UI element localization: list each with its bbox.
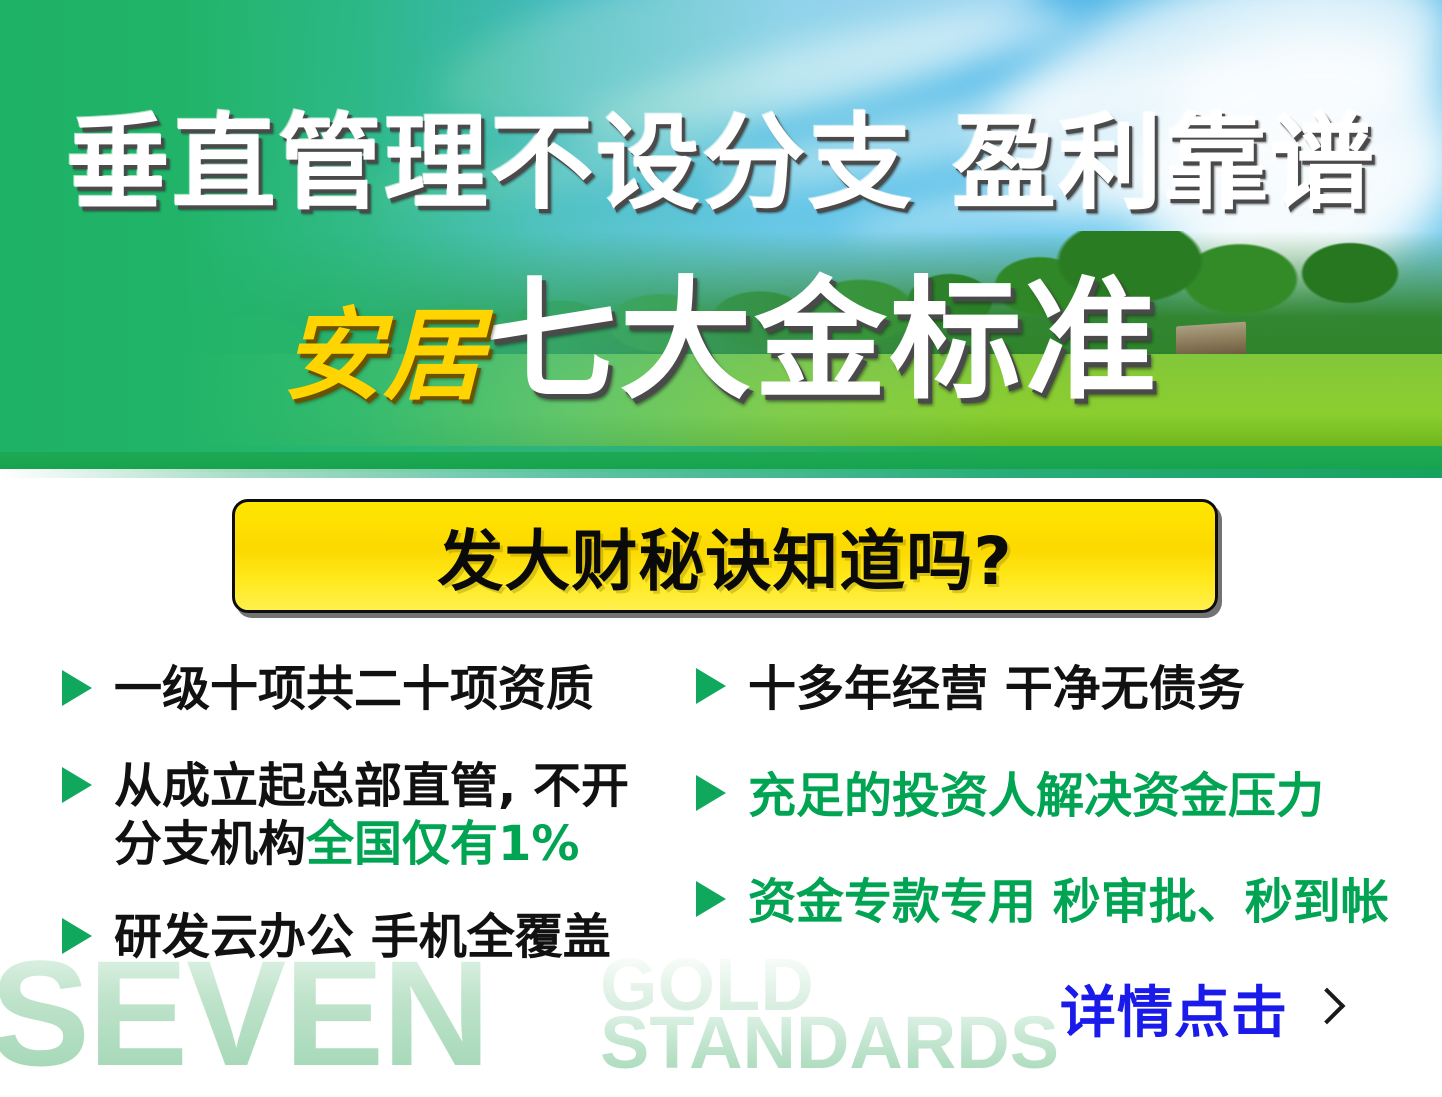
triangle-bullet-icon — [696, 881, 726, 917]
brand-name: 安居 — [283, 274, 485, 419]
feature-text: 十多年经营 干净无债务 — [748, 660, 1245, 719]
feature-text: 充足的投资人解决资金压力 — [748, 767, 1324, 826]
list-item: 研发云办公 手机全覆盖 — [62, 908, 702, 967]
triangle-bullet-icon — [696, 668, 726, 704]
triangle-bullet-icon — [62, 670, 92, 706]
list-item: 十多年经营 干净无债务 — [696, 660, 1396, 719]
details-cta-link[interactable]: 详情点击 — [1060, 968, 1334, 1049]
feature-column-left: 一级十项共二十项资质 从成立起总部直管, 不开分支机构全国仅有1% 研发云办公 … — [62, 660, 702, 996]
feature-text: 资金专款专用 秒审批、秒到帐 — [748, 873, 1389, 932]
feature-text-line1: 从成立起总部直管, 不开 — [114, 758, 629, 814]
triangle-bullet-icon — [696, 775, 726, 811]
hero-headline-standards: 七大金标准 — [485, 275, 1160, 407]
list-item: 从成立起总部直管, 不开分支机构全国仅有1% — [62, 757, 702, 874]
feature-text: 研发云办公 手机全覆盖 — [114, 908, 611, 967]
feature-text: 从成立起总部直管, 不开分支机构全国仅有1% — [114, 757, 629, 874]
feature-text: 一级十项共二十项资质 — [114, 660, 594, 719]
feature-lists: 一级十项共二十项资质 从成立起总部直管, 不开分支机构全国仅有1% 研发云办公 … — [0, 660, 1442, 990]
feature-column-right: 十多年经营 干净无债务 充足的投资人解决资金压力 资金专款专用 秒审批、秒到帐 — [696, 660, 1396, 962]
feature-text-highlight: 全国仅有1% — [306, 816, 580, 872]
triangle-bullet-icon — [62, 918, 92, 954]
triangle-bullet-icon — [62, 767, 92, 803]
highlight-banner-wrapper: 发大财秘诀知道吗? — [232, 499, 1218, 613]
bottom-gradient-strip — [0, 469, 1442, 478]
list-item: 资金专款专用 秒审批、秒到帐 — [696, 873, 1396, 932]
list-item: 一级十项共二十项资质 — [62, 660, 702, 719]
hero-headline-secondary: 安居七大金标准 — [0, 268, 1442, 413]
details-cta-label: 详情点击 — [1060, 968, 1288, 1049]
chevron-right-icon — [1312, 989, 1334, 1029]
hero-headline-primary: 垂直管理不设分支 盈利靠谱 — [0, 110, 1442, 216]
highlight-banner-text: 发大财秘诀知道吗? — [437, 508, 1012, 604]
highlight-banner[interactable]: 发大财秘诀知道吗? — [232, 499, 1218, 613]
feature-text-line2: 分支机构 — [114, 816, 306, 872]
watermark-standards: STANDARDS — [600, 1006, 1059, 1080]
hero-banner: 垂直管理不设分支 盈利靠谱 安居七大金标准 — [0, 0, 1442, 478]
list-item: 充足的投资人解决资金压力 — [696, 767, 1396, 826]
